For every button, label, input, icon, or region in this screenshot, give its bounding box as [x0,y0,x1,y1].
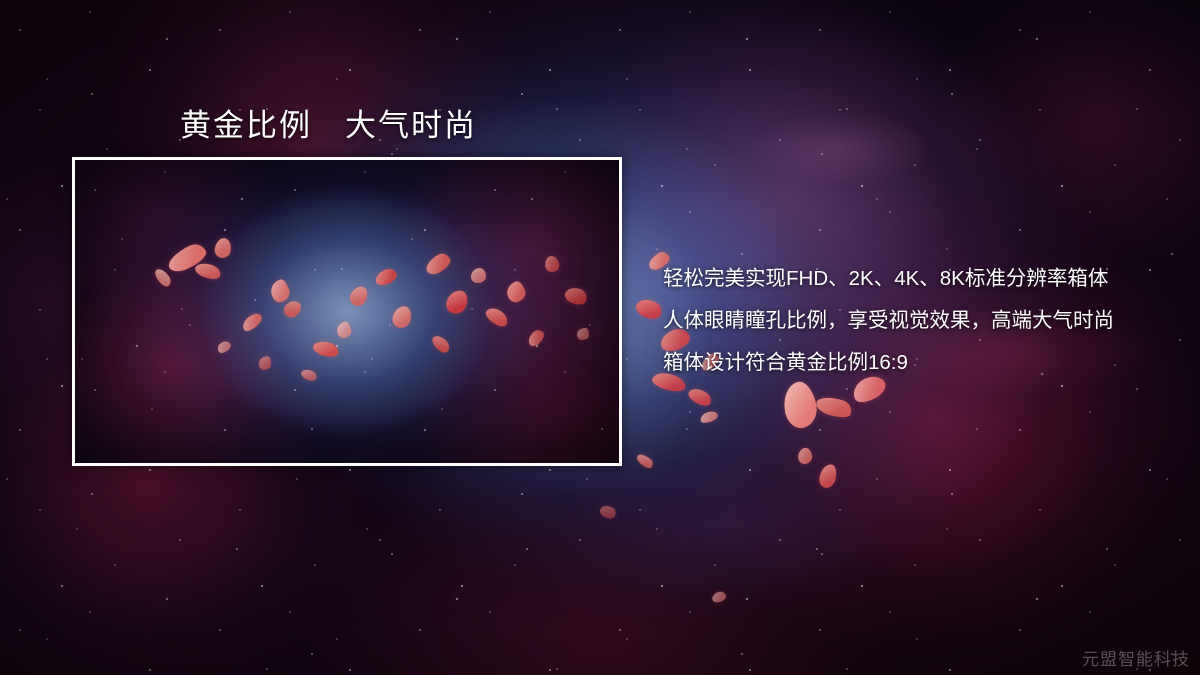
framed-image [72,157,622,466]
body-line-1: 轻松完美实现FHD、2K、4K、8K标准分辨率箱体 [663,258,1163,300]
slide-title: 黄金比例 大气时尚 [180,100,477,145]
body-line-3: 箱体设计符合黄金比例16:9 [663,342,1163,384]
body-line-2: 人体眼睛瞳孔比例，享受视觉效果，高端大气时尚 [663,300,1163,342]
framed-image-vignette [75,160,619,463]
presentation-slide: 黄金比例 大气时尚 轻松完美实现FHD、2K、4K、8K标准分辨率箱体 人体眼睛… [0,0,1200,675]
slide-body-text: 轻松完美实现FHD、2K、4K、8K标准分辨率箱体 人体眼睛瞳孔比例，享受视觉效… [663,258,1163,384]
company-watermark: 元盟智能科技 [1082,645,1190,670]
